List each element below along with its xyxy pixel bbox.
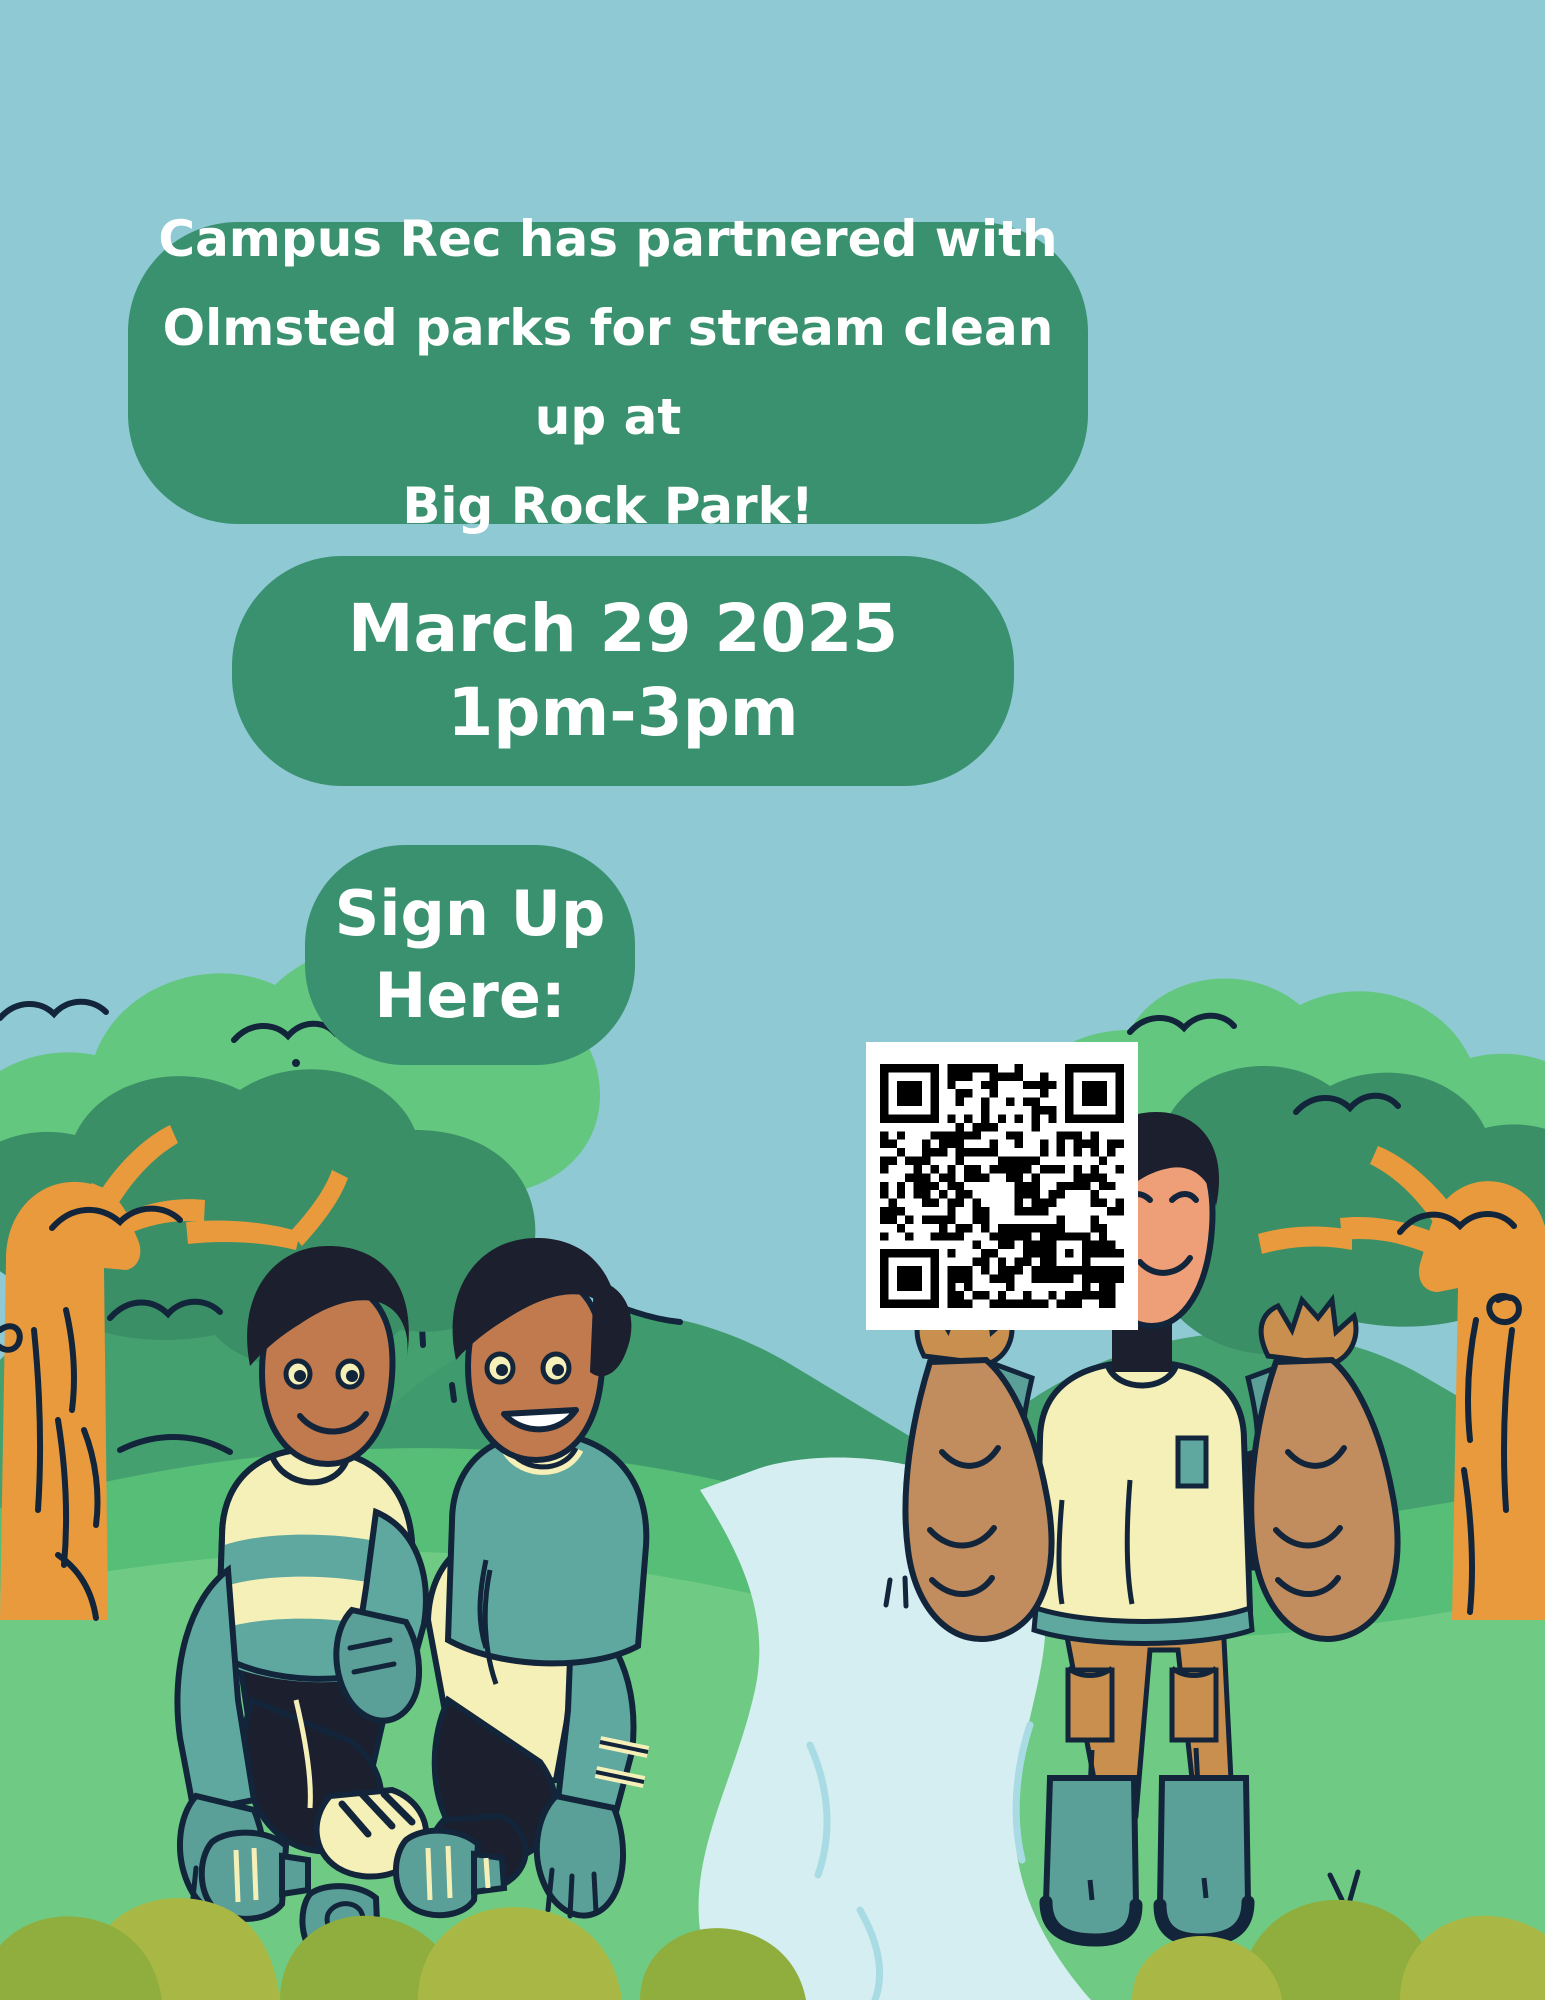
hill-doodle-6 [452,1385,454,1400]
standing-boot-detail-right [1204,1878,1206,1898]
kneel-r-pupil-right [552,1364,564,1376]
tree-left-dot [292,1059,300,1067]
event-time: 1pm-3pm [447,671,798,755]
standing-shirt-fold-2 [1059,1500,1062,1604]
sign-up-box[interactable]: Sign Up Here: [305,845,635,1065]
description-line-3: Big Rock Park! [402,462,813,551]
kneel-r-pupil-left [496,1364,508,1376]
volunteer-kneeling-right [428,1238,648,1916]
kneel-l-pupil-left [294,1370,306,1382]
sign-up-qr-code[interactable] [880,1064,1124,1308]
qr-code-container[interactable] [866,1042,1138,1330]
date-time-box: March 29 2025 1pm-3pm [232,556,1014,786]
sign-up-line-1: Sign Up [335,873,606,955]
poster-root: VOLUNTEER WITH US! Campus Rec has partne… [0,0,1545,2000]
sign-up-line-2: Here: [374,955,565,1037]
standing-pocket-left [1068,1670,1112,1740]
standing-boot-right [1160,1778,1248,1940]
description-line-2: Olmsted parks for stream clean up at [154,284,1062,462]
standing-boot-detail-left [1090,1880,1092,1900]
description-line-1: Campus Rec has partnered with [158,195,1057,284]
standing-shirt [1036,1362,1250,1624]
kneel-l-pupil-right [346,1370,358,1382]
standing-shirt-pocket [1178,1438,1206,1486]
description-box: Campus Rec has partnered with Olmsted pa… [128,222,1088,524]
standing-pocket-right [1172,1670,1216,1740]
event-date: March 29 2025 [348,587,898,671]
standing-boot-left [1046,1778,1136,1940]
